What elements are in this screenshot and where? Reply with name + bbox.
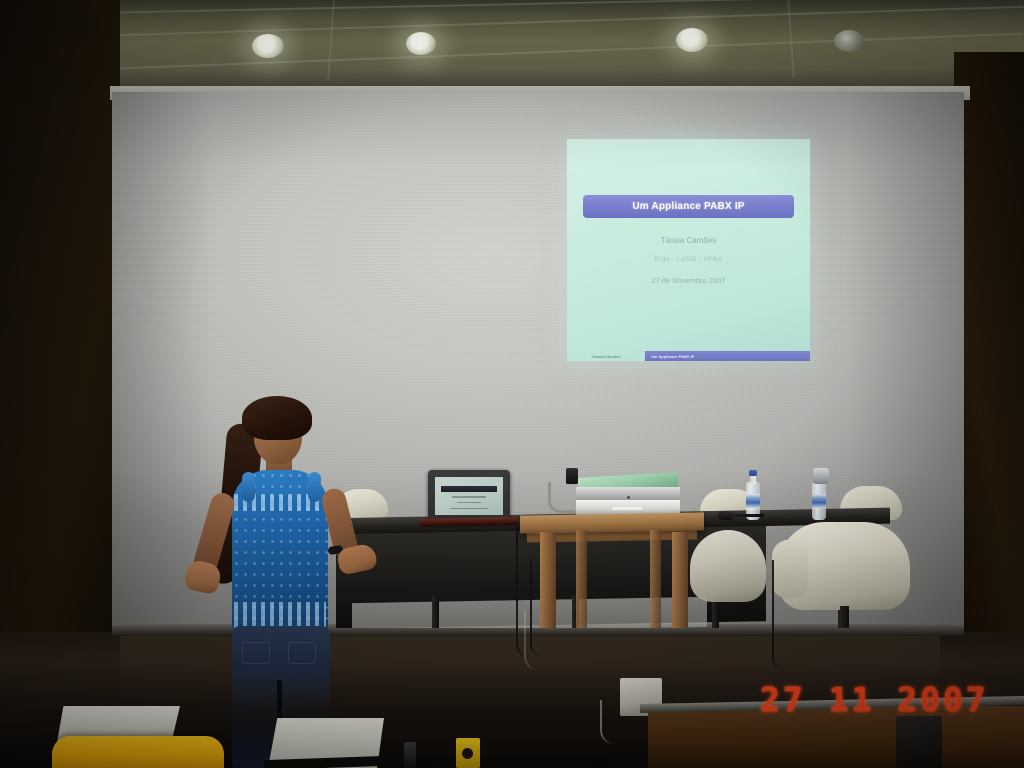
- laptop-base: [420, 517, 518, 527]
- ceiling-grid-line: [787, 0, 794, 78]
- bottle-label: [746, 494, 760, 508]
- slide-title-bar: Um Appliance PABX IP: [583, 195, 794, 218]
- bottle-neck: [750, 475, 756, 484]
- slide-footer-author: Tássia Camões: [567, 351, 645, 361]
- foreground-yellow-chair: [52, 736, 224, 768]
- ceiling-grid-line: [327, 0, 335, 80]
- laptop-slide-line: [457, 502, 481, 503]
- power-cable: [772, 560, 790, 670]
- bottle-label: [812, 494, 826, 508]
- slide-date: 27 de Novembro 2007: [567, 276, 810, 285]
- wooden-table-top: [520, 512, 704, 533]
- projected-slide: Um Appliance PABX IP Tássia Camões Ergo …: [567, 139, 810, 361]
- ceiling-grid-line: [0, 33, 1023, 74]
- microphone-stem: [730, 514, 764, 517]
- trouser-pocket: [242, 642, 270, 664]
- hair: [242, 396, 312, 440]
- slide-organization: Ergo - LaSiD - UFBA: [567, 256, 810, 263]
- laptop-slide-line: [450, 508, 488, 509]
- foreground-bag: [896, 716, 942, 768]
- appliance-led-icon: [627, 496, 630, 499]
- clamp-head: [566, 468, 578, 484]
- ceiling-grid-line: [0, 0, 1024, 16]
- presenter: [180, 396, 400, 768]
- foreground-device-button: [462, 748, 473, 759]
- bottle-cap: [749, 470, 757, 476]
- ceiling: [0, 0, 1024, 92]
- slide-footer-title: Um Appliance PABX IP: [645, 351, 810, 361]
- appliance-slot: [612, 507, 642, 510]
- slide-title: Um Appliance PABX IP: [632, 201, 744, 212]
- slide-footer: Tássia Camões Um Appliance PABX IP: [567, 351, 810, 361]
- laptop-slide-line: [452, 496, 486, 498]
- ceiling-downlight-icon: [406, 32, 436, 55]
- laptop-slide-title-bar: [441, 486, 497, 492]
- foreground-device-dark: [404, 742, 416, 768]
- ceiling-downlight-icon: [676, 28, 708, 52]
- top-trim-lower: [234, 602, 326, 628]
- cable-light: [600, 700, 624, 744]
- ceiling-downlight-icon: [252, 34, 284, 58]
- slide-author: Tássia Camões: [567, 236, 810, 245]
- water-bottle-right: [812, 468, 830, 522]
- smoke-detector-icon: [834, 30, 864, 52]
- bottle-cap: [813, 468, 829, 484]
- presentation-photo: Um Appliance PABX IP Tássia Camões Ergo …: [0, 0, 1024, 768]
- cable-light: [524, 610, 542, 670]
- shoulder-strap-right: [308, 472, 321, 502]
- clamp-arm: [548, 482, 575, 513]
- trouser-pocket: [288, 642, 316, 664]
- office-chair-center-shell: [690, 530, 766, 602]
- camera-datestamp: 27 11 2007: [760, 680, 989, 719]
- shoulder-strap-left: [242, 472, 255, 502]
